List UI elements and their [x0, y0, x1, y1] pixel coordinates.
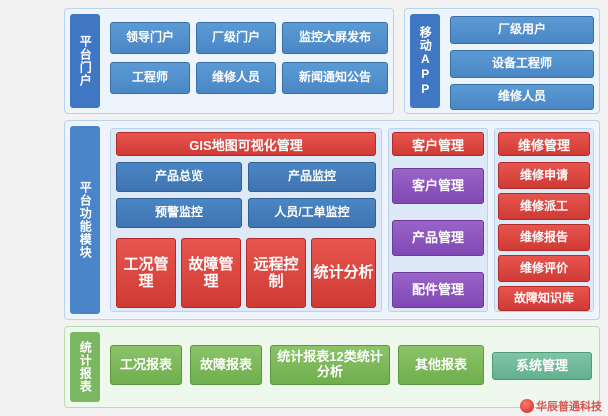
reports-item-other[interactable]: 其他报表 [398, 345, 484, 385]
portal-section-title: 平台门户 [70, 14, 100, 108]
reports-item-system-mgmt[interactable]: 系统管理 [492, 352, 592, 380]
reports-item-statistical[interactable]: 统计报表12类统计分析 [270, 345, 390, 385]
portal-item-engineer[interactable]: 工程师 [110, 62, 190, 94]
customer-item-parts-mgmt[interactable]: 配件管理 [392, 272, 484, 308]
mobile-section-title: 移动APP [410, 14, 440, 108]
portal-item-factory[interactable]: 厂级门户 [196, 22, 276, 54]
reports-section-title: 统计报表 [70, 332, 100, 402]
customer-panel-header: 客户管理 [392, 132, 484, 156]
customer-item-customer-mgmt[interactable]: 客户管理 [392, 168, 484, 204]
mobile-item-repairman[interactable]: 维修人员 [450, 84, 594, 110]
gis-item-condition-mgmt[interactable]: 工况管理 [116, 238, 176, 308]
functions-section-title: 平台功能模块 [70, 126, 100, 314]
gis-item-staff-order-monitor[interactable]: 人员/工单监控 [248, 198, 376, 228]
gis-item-warning-monitor[interactable]: 预警监控 [116, 198, 242, 228]
maintenance-item-request[interactable]: 维修申请 [498, 162, 590, 189]
maintenance-item-evaluation[interactable]: 维修评价 [498, 255, 590, 282]
gis-item-remote-control[interactable]: 远程控制 [246, 238, 306, 308]
gis-item-statistical-analysis[interactable]: 统计分析 [311, 238, 376, 308]
gis-panel-header: GIS地图可视化管理 [116, 132, 376, 156]
diagram-canvas: 平台门户 领导门户 厂级门户 监控大屏发布 工程师 维修人员 新闻通知公告 移动… [0, 0, 608, 416]
portal-item-news[interactable]: 新闻通知公告 [282, 62, 388, 94]
reports-item-fault[interactable]: 故障报表 [190, 345, 262, 385]
maintenance-item-knowledge-base[interactable]: 故障知识库 [498, 286, 590, 311]
reports-item-condition[interactable]: 工况报表 [110, 345, 182, 385]
gis-item-product-overview[interactable]: 产品总览 [116, 162, 242, 192]
gis-item-product-monitor[interactable]: 产品监控 [248, 162, 376, 192]
maintenance-item-report[interactable]: 维修报告 [498, 224, 590, 251]
maintenance-panel-header: 维修管理 [498, 132, 590, 156]
portal-item-bigscreen[interactable]: 监控大屏发布 [282, 22, 388, 54]
mobile-item-factory-user[interactable]: 厂级用户 [450, 16, 594, 44]
customer-item-product-mgmt[interactable]: 产品管理 [392, 220, 484, 256]
watermark-text: 华辰普通科技 [536, 398, 602, 414]
maintenance-item-dispatch[interactable]: 维修派工 [498, 193, 590, 220]
mobile-item-equipment-engineer[interactable]: 设备工程师 [450, 50, 594, 78]
gis-item-fault-mgmt[interactable]: 故障管理 [181, 238, 241, 308]
watermark-logo-icon [520, 399, 534, 413]
portal-item-leader[interactable]: 领导门户 [110, 22, 190, 54]
portal-item-repairman[interactable]: 维修人员 [196, 62, 276, 94]
